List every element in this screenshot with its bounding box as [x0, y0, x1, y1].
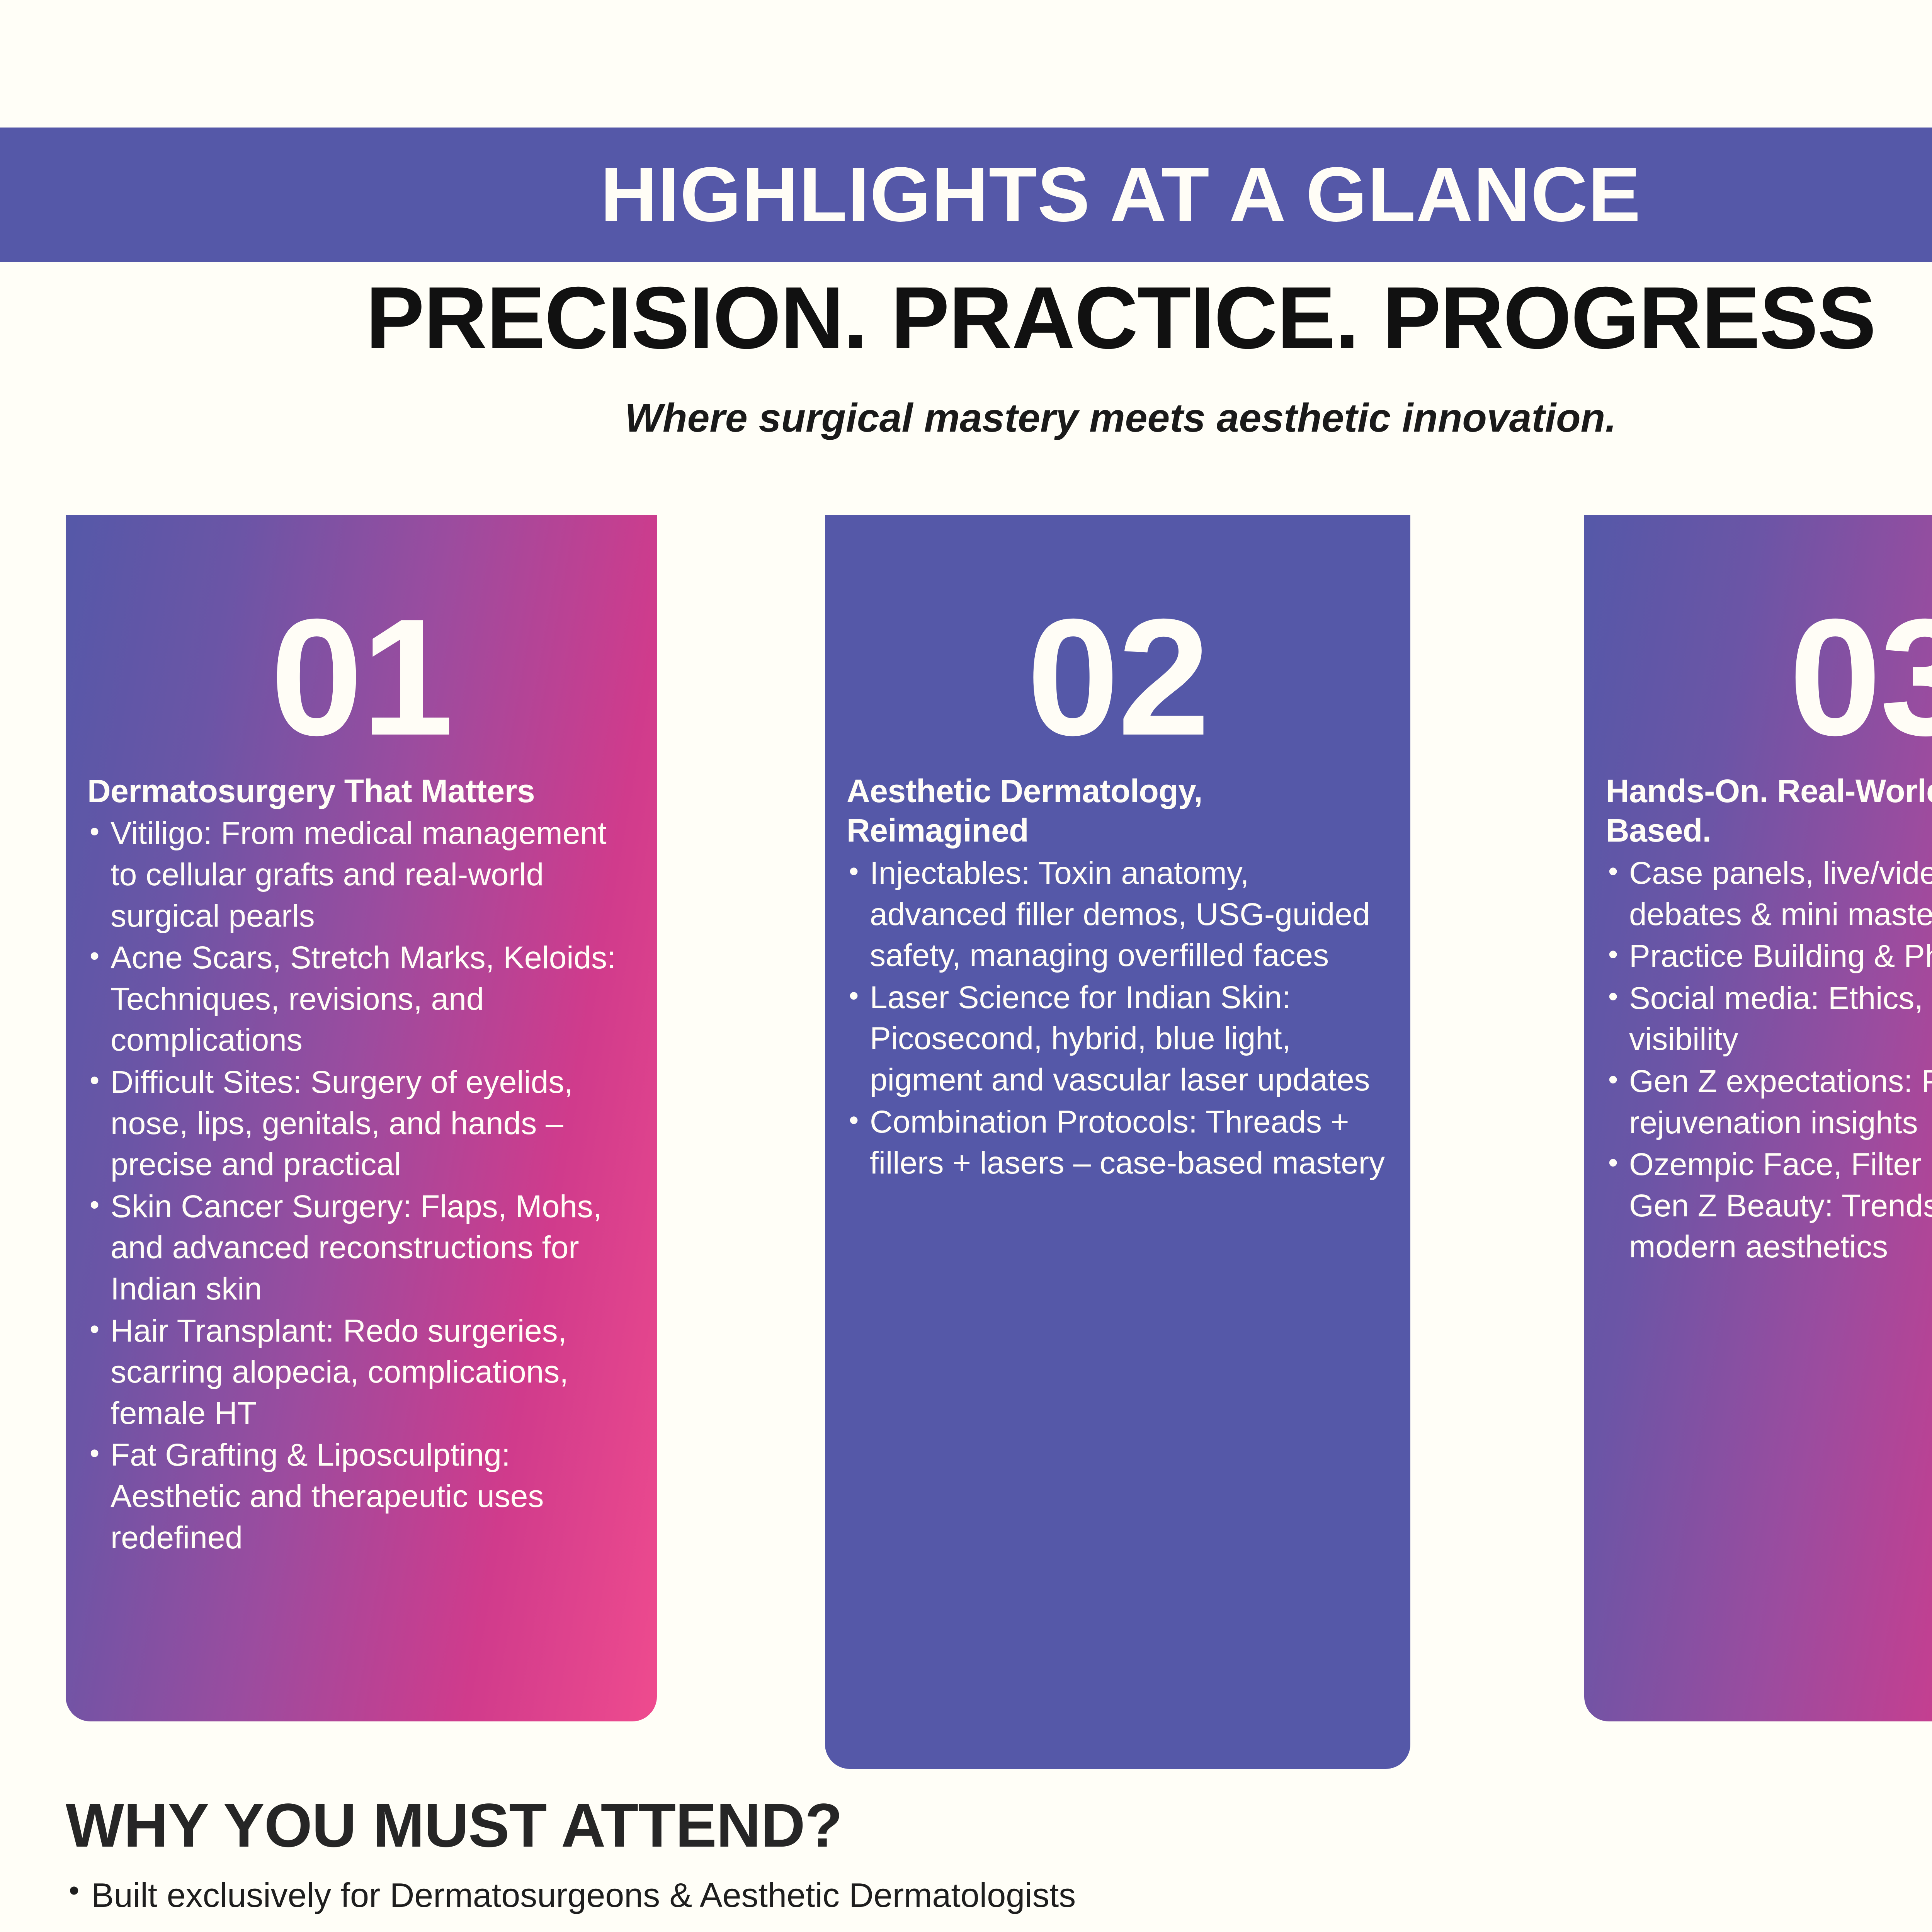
page-subtitle: Where surgical mastery meets aesthetic i… — [0, 396, 1932, 440]
header-banner: HIGHLIGHTS AT A GLANCE — [0, 128, 1932, 262]
card-body-01: Dermatosurgery That Matters Vitiligo: Fr… — [66, 771, 657, 1558]
highlight-card-01: 01 Dermatosurgery That Matters Vitiligo:… — [66, 515, 657, 1721]
card-bullet-list-02: Injectables: Toxin anatomy, advanced fil… — [847, 853, 1389, 1184]
list-item: Ozempic Face, Filter Dysmorphia & Gen Z … — [1606, 1144, 1932, 1268]
list-item: Hair Transplant: Redo surgeries, scarrin… — [87, 1311, 635, 1434]
card-body-02: Aesthetic Dermatology, Reimagined Inject… — [825, 771, 1410, 1184]
list-item: Difficult Sites: Surgery of eyelids, nos… — [87, 1062, 635, 1185]
card-number-02: 02 — [825, 515, 1410, 760]
list-item: Vitiligo: From medical management to cel… — [87, 813, 635, 937]
card-body-03: Hands-On. Real-World. Case-Based. Case p… — [1584, 771, 1932, 1268]
list-item: Skin Cancer Surgery: Flaps, Mohs, and ad… — [87, 1186, 635, 1310]
list-item: Social media: Ethics, strategy, visibili… — [1606, 978, 1932, 1060]
list-item: Fat Grafting & Liposculpting: Aesthetic … — [87, 1435, 635, 1558]
list-item: Injectables: Toxin anatomy, advanced fil… — [847, 853, 1389, 976]
why-attend-title: WHY YOU MUST ATTEND? — [66, 1793, 1882, 1858]
list-item: Built exclusively for Dermatosurgeons & … — [66, 1875, 1882, 1916]
page-title: PRECISION. PRACTICE. PROGRESS — [0, 272, 1932, 364]
card-number-03: 03 — [1584, 515, 1932, 760]
card-heading-02: Aesthetic Dermatology, Reimagined — [847, 771, 1389, 850]
list-item: Combination Protocols: Threads + fillers… — [847, 1102, 1389, 1184]
highlight-card-02: 02 Aesthetic Dermatology, Reimagined Inj… — [825, 515, 1410, 1769]
card-bullet-list-01: Vitiligo: From medical management to cel… — [87, 813, 635, 1558]
card-bullet-list-03: Case panels, live/video demos, debates &… — [1606, 853, 1932, 1268]
list-item: Laser Science for Indian Skin: Picosecon… — [847, 977, 1389, 1101]
list-item: Gen Z expectations: Pre-rejuvenation ins… — [1606, 1061, 1932, 1143]
list-item: Case panels, live/video demos, debates &… — [1606, 853, 1932, 935]
list-item: Practice Building & Photography — [1606, 936, 1932, 977]
highlight-card-03: 03 Hands-On. Real-World. Case-Based. Cas… — [1584, 515, 1932, 1721]
card-heading-01: Dermatosurgery That Matters — [87, 771, 635, 811]
banner-title: HIGHLIGHTS AT A GLANCE — [600, 156, 1641, 233]
why-attend-list: Built exclusively for Dermatosurgeons & … — [66, 1875, 1882, 1932]
list-item: Acne Scars, Stretch Marks, Keloids: Tech… — [87, 937, 635, 1061]
card-number-01: 01 — [66, 515, 657, 760]
highlight-cards: 01 Dermatosurgery That Matters Vitiligo:… — [0, 515, 1932, 1775]
why-attend-section: WHY YOU MUST ATTEND? Built exclusively f… — [66, 1793, 1882, 1932]
card-heading-03: Hands-On. Real-World. Case-Based. — [1606, 771, 1932, 850]
